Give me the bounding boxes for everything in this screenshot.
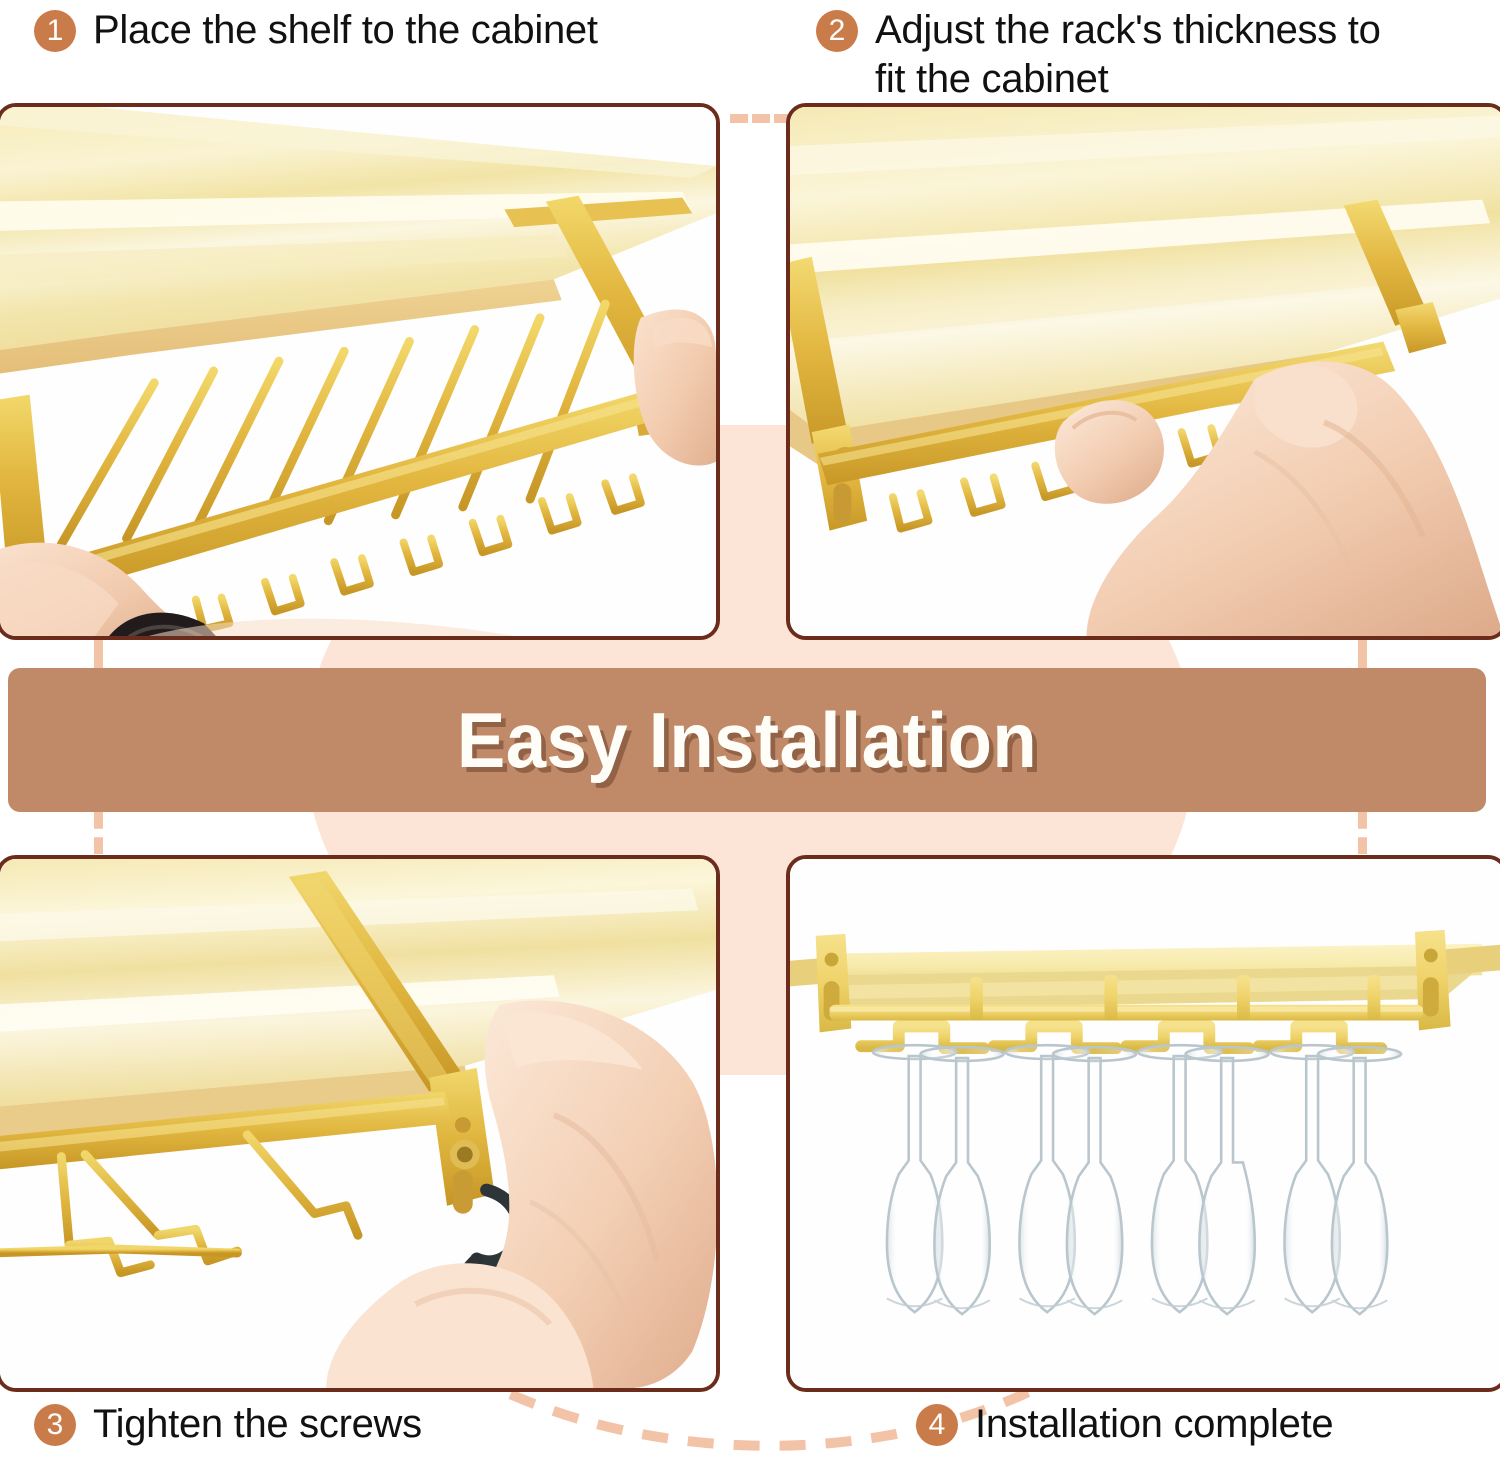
step-2-label: Adjust the rack's thickness to fit the c… [875, 6, 1381, 104]
dashed-divider-left-lower [94, 812, 103, 854]
infographic-root: 1 Place the shelf to the cabinet 2 Adjus… [0, 0, 1500, 1464]
dashed-divider-left-upper [94, 640, 103, 670]
step-1-photo [0, 107, 716, 636]
step-1-heading: 1 Place the shelf to the cabinet [34, 6, 734, 55]
step-1-photo-panel [0, 103, 720, 640]
dashed-divider-right-lower [1358, 812, 1367, 854]
step-4-photo [790, 859, 1500, 1388]
step-4-heading: 4 Installation complete [916, 1400, 1486, 1449]
step-1-label: Place the shelf to the cabinet [93, 6, 598, 55]
step-4-label: Installation complete [975, 1400, 1333, 1449]
step-3-number-badge: 3 [34, 1404, 76, 1446]
step-2-number-badge: 2 [816, 10, 858, 52]
step-3-photo-panel [0, 855, 720, 1392]
step-1-number-badge: 1 [34, 10, 76, 52]
step-3-label: Tighten the screws [93, 1400, 422, 1449]
step-4-photo-panel [786, 855, 1500, 1392]
banner-title: Easy Installation [457, 695, 1037, 786]
step-2-photo-panel [786, 103, 1500, 640]
step-2-photo [790, 107, 1500, 636]
easy-installation-banner: Easy Installation [8, 668, 1486, 812]
dashed-divider-top [730, 114, 792, 123]
step-3-photo [0, 859, 716, 1388]
dashed-divider-right-upper [1358, 640, 1367, 670]
step-4-number-badge: 4 [916, 1404, 958, 1446]
step-3-heading: 3 Tighten the screws [34, 1400, 734, 1449]
step-2-heading: 2 Adjust the rack's thickness to fit the… [816, 6, 1486, 104]
